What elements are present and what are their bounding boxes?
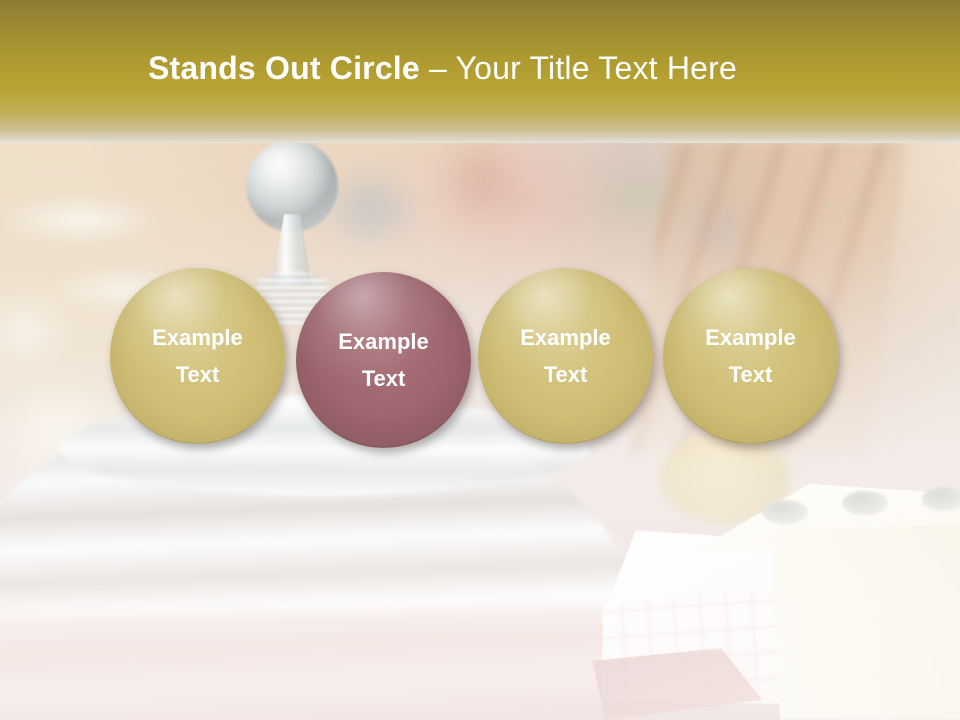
circle-item-3-line2: Text: [544, 356, 588, 393]
cloche-base-surface: [0, 612, 660, 720]
cheese-hole: [842, 491, 888, 515]
circle-item-3-line1: Example: [520, 319, 611, 356]
circle-item-4[interactable]: Example Text: [663, 268, 838, 444]
title-banner: Stands Out Circle – Your Title Text Here: [0, 0, 960, 143]
circle-item-2-line2: Text: [362, 360, 406, 397]
cheese-block-face: [772, 520, 960, 720]
circle-item-4-line2: Text: [729, 356, 773, 393]
circle-item-1-line2: Text: [176, 356, 220, 393]
page-title-bold: Stands Out Circle: [148, 50, 420, 86]
circle-diagram: Example Text Example Text Example Text E…: [0, 268, 960, 448]
cheese-hole: [922, 487, 960, 511]
circle-item-4-line1: Example: [705, 319, 796, 356]
circle-item-3[interactable]: Example Text: [478, 268, 653, 444]
circle-item-1-line1: Example: [152, 319, 243, 356]
circle-item-2-highlighted[interactable]: Example Text: [296, 272, 471, 448]
page-title: Stands Out Circle – Your Title Text Here: [148, 50, 737, 87]
circle-item-1[interactable]: Example Text: [110, 268, 285, 444]
circle-item-2-line1: Example: [338, 323, 429, 360]
page-title-regular: – Your Title Text Here: [420, 50, 737, 86]
cheese-hole: [762, 500, 808, 524]
presentation-slide: Stands Out Circle – Your Title Text Here…: [0, 0, 960, 720]
